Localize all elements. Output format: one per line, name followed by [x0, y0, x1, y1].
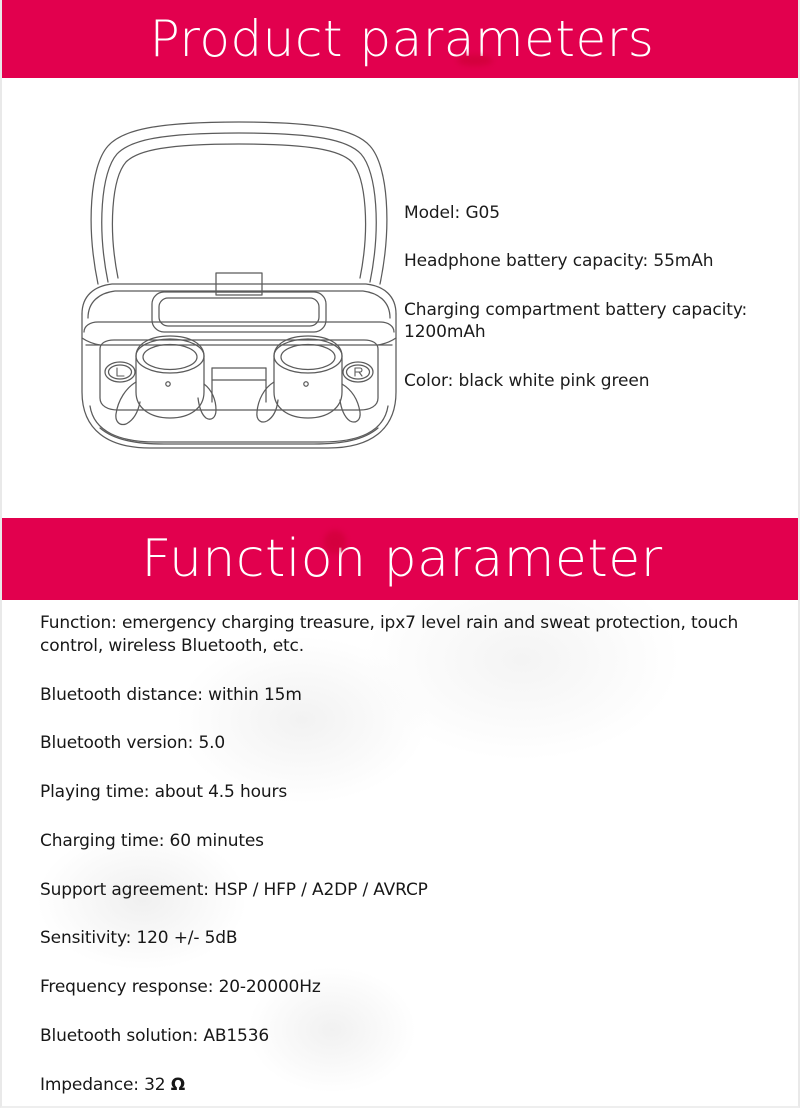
fn-sensitivity: Sensitivity: 120 +/- 5dB: [40, 927, 750, 950]
fn-bluetooth-distance: Bluetooth distance: within 15m: [40, 684, 750, 707]
fn-charging-time: Charging time: 60 minutes: [40, 830, 750, 853]
product-parameters-section: Model: G05 Headphone battery capacity: 5…: [2, 78, 800, 518]
fn-impedance: Impedance: 32 Ω: [40, 1074, 750, 1097]
fn-frequency-response: Frequency response: 20-20000Hz: [40, 976, 750, 999]
fn-impedance-label: Impedance: 32: [40, 1075, 171, 1095]
fn-bluetooth-version: Bluetooth version: 5.0: [40, 732, 750, 755]
spec-headphone-battery: Headphone battery capacity: 55mAh: [404, 250, 784, 272]
function-parameter-title: Function parameter: [141, 533, 662, 585]
earbuds-charging-case-illustration: [64, 106, 414, 456]
product-parameters-title: Product parameters: [150, 14, 655, 64]
fn-bluetooth-solution: Bluetooth solution: AB1536: [40, 1025, 750, 1048]
product-parameters-banner: Product parameters: [2, 0, 800, 78]
product-spec-page: Product parameters: [0, 0, 800, 1108]
spec-color: Color: black white pink green: [404, 370, 784, 392]
function-parameter-banner: Function parameter: [2, 518, 800, 600]
fn-function: Function: emergency charging treasure, i…: [40, 612, 750, 658]
function-spec-list: Function: emergency charging treasure, i…: [40, 612, 750, 1096]
function-parameter-section: Function: emergency charging treasure, i…: [2, 600, 800, 1108]
product-spec-list: Model: G05 Headphone battery capacity: 5…: [404, 202, 784, 392]
fn-support-agreement: Support agreement: HSP / HFP / A2DP / AV…: [40, 879, 750, 902]
fn-playing-time: Playing time: about 4.5 hours: [40, 781, 750, 804]
spec-case-battery: Charging compartment battery capacity: 1…: [404, 299, 784, 344]
ohm-symbol-icon: Ω: [171, 1075, 185, 1095]
spec-model: Model: G05: [404, 202, 784, 224]
